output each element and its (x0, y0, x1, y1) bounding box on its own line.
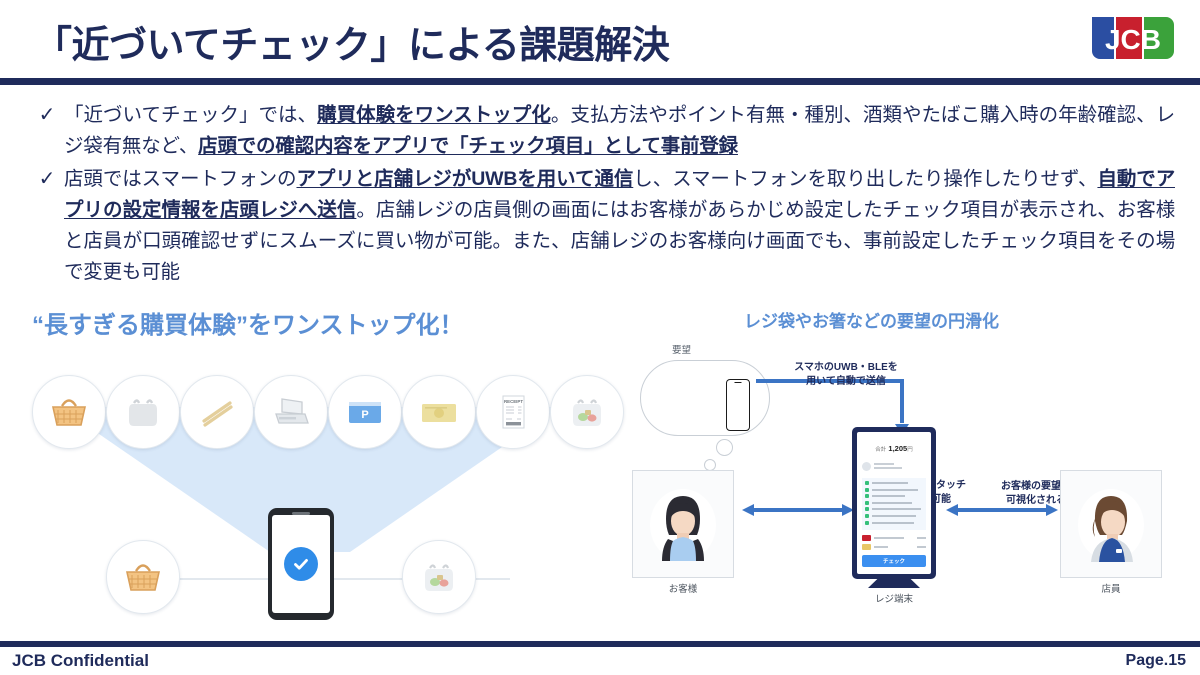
pos-user-avatar-icon (862, 462, 871, 471)
pos-terminal-caption: レジ端末 (852, 591, 936, 605)
check-icon (284, 547, 318, 581)
clerk-avatar (1060, 470, 1162, 578)
clerk-caption: 店員 (1060, 581, 1162, 595)
check-icon (865, 494, 869, 498)
pos-total-amount: 合計 1,205円 (862, 444, 926, 453)
thought-bubble (640, 360, 770, 436)
pos-register-icon (254, 375, 328, 449)
payment-double-arrow (742, 503, 854, 517)
bubble-label: 要望 (672, 342, 691, 356)
customer-avatar (632, 470, 734, 578)
bullet-item-2: ✓ 店頭ではスマートフォンのアプリと店舗レジがUWBを用いて通信し、スマートフォ… (30, 164, 1175, 288)
check-icon (865, 514, 869, 518)
left-diagram: P RECEIPT (10, 345, 620, 620)
bullet-2-seg-0: 店頭ではスマートフォンの (64, 168, 296, 190)
phone-speaker (292, 512, 310, 515)
jcb-logo: JCB (1084, 7, 1188, 69)
point-card-icon: P (328, 375, 402, 449)
check-icon (865, 481, 869, 485)
check-icon (865, 521, 869, 525)
smartphone-check (268, 508, 334, 620)
slide: 「近づいてチェック」による課題解決 JCB ✓ 「近づいてチェック」では、購買体… (0, 0, 1200, 675)
check-icon (865, 488, 869, 492)
footer-confidential: JCB Confidential (12, 651, 149, 671)
customer-caption: お客様 (632, 581, 734, 595)
list-item[interactable] (865, 521, 923, 525)
left-section-heading: “長すぎる購買体験”をワンストップ化！ (32, 305, 464, 340)
pos-total-suffix: 円 (907, 447, 913, 453)
check-mark-icon: ✓ (30, 100, 64, 131)
jcb-logo-text: JCB (1105, 24, 1161, 55)
pos-payment-list (862, 535, 926, 550)
list-item[interactable] (865, 494, 923, 498)
shopping-basket-icon (32, 375, 106, 449)
thought-bubble-dot-large (716, 439, 733, 456)
header-divider (0, 78, 1200, 85)
bullet-2-text: 店頭ではスマートフォンのアプリと店舗レジがUWBを用いて通信し、スマートフォンを… (64, 164, 1175, 288)
top-icon-row: P RECEIPT (10, 375, 620, 459)
list-item[interactable] (865, 488, 923, 492)
cash-banknote-icon (402, 375, 476, 449)
svg-text:P: P (361, 409, 368, 421)
list-item[interactable] (865, 501, 923, 505)
credit-card-icon (862, 535, 871, 541)
pos-user-lines (874, 463, 902, 470)
filled-shopping-bag-icon (550, 375, 624, 449)
plastic-bag-icon (106, 375, 180, 449)
pos-user-row (862, 462, 926, 471)
bullet-item-1: ✓ 「近づいてチェック」では、購買体験をワンストップ化。支払方法やポイント有無・… (30, 100, 1175, 162)
receipt-icon: RECEIPT (476, 375, 550, 449)
footer-divider (0, 641, 1200, 647)
customer-smartphone-icon (726, 379, 750, 431)
bullet-1-seg-0: 「近づいてチェック」では、 (64, 104, 317, 126)
check-icon (865, 507, 869, 511)
pos-total-value: 1,205 (888, 444, 907, 453)
filled-shopping-bag-icon (402, 540, 476, 614)
check-icon (865, 501, 869, 505)
bullet-list: ✓ 「近づいてチェック」では、購買体験をワンストップ化。支払方法やポイント有無・… (30, 100, 1175, 290)
pos-terminal-screen[interactable]: 合計 1,205円 (857, 432, 931, 574)
uwb-arrow-label: スマホのUWB・BLEを 用いて自動で送信 (766, 361, 926, 389)
svg-text:RECEIPT: RECEIPT (504, 399, 523, 404)
uwb-arrow-label-line1: スマホのUWB・BLEを (766, 361, 926, 375)
list-item[interactable] (862, 544, 926, 550)
list-item[interactable] (862, 535, 926, 541)
right-section-heading: レジ袋やお箸などの要望の円滑化 (744, 307, 999, 332)
slide-header: 「近づいてチェック」による課題解決 JCB (0, 0, 1200, 82)
list-item[interactable] (865, 514, 923, 518)
footer-page-number: Page.15 (1126, 652, 1186, 670)
pos-terminal-stand (868, 579, 920, 588)
pos-check-button[interactable]: チェック (862, 555, 926, 567)
page-title: 「近づいてチェック」による課題解決 (34, 14, 669, 69)
bullet-1-seg-3: 店頭での確認内容をアプリで「チェック項目」として事前登録 (198, 135, 738, 157)
bullet-1-text: 「近づいてチェック」では、購買体験をワンストップ化。支払方法やポイント有無・種別… (64, 100, 1175, 162)
pos-terminal[interactable]: 合計 1,205円 (852, 427, 936, 579)
chopsticks-icon (180, 375, 254, 449)
list-item[interactable] (865, 481, 923, 485)
point-card-icon (862, 544, 871, 550)
list-item[interactable] (865, 507, 923, 511)
check-mark-icon: ✓ (30, 164, 64, 195)
right-diagram: 要望 スマホのUWB・BLEを 用いて自動で送信 お客 (620, 335, 1195, 625)
pos-check-item-list (862, 478, 926, 530)
pos-total-prefix: 合計 (875, 447, 886, 453)
phone-screen (272, 515, 330, 613)
shopping-basket-icon (106, 540, 180, 614)
bullet-2-seg-1: アプリと店舗レジがUWBを用いて通信 (296, 168, 633, 190)
bullet-1-seg-1: 購買体験をワンストップ化 (317, 104, 551, 126)
uwb-arrow-label-line2: 用いて自動で送信 (766, 375, 926, 389)
bullet-2-seg-2: し、スマートフォンを取り出したり操作したりせず、 (633, 168, 1097, 190)
